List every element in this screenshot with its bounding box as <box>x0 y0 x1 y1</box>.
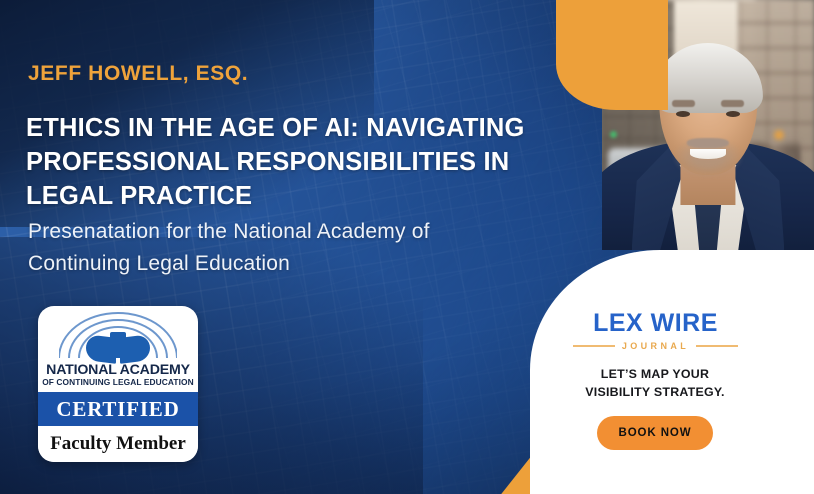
rule-right <box>696 345 738 347</box>
page-title: ETHICS IN THE AGE OF AI: NAVIGATING PROF… <box>26 112 566 214</box>
book-page-left <box>86 334 116 364</box>
badge-role-label: Faculty Member <box>50 433 186 455</box>
book-page-right <box>120 334 150 364</box>
brand-name: LEX WIRE <box>573 311 738 336</box>
beard-stubble <box>672 143 744 178</box>
brand-subtitle: JOURNAL <box>622 341 689 351</box>
eyebrow-left <box>672 100 695 107</box>
cta-tagline: LET’S MAP YOUR VISIBILITY STRATEGY. <box>560 366 750 402</box>
speaker-promo-banner: JEFF HOWELL, ESQ. ETHICS IN THE AGE OF A… <box>0 0 814 494</box>
cta-tagline-line2: VISIBILITY STRATEGY. <box>560 384 750 402</box>
speaker-name: JEFF HOWELL, ESQ. <box>28 62 248 86</box>
badge-organization-name: NATIONAL ACADEMY <box>38 362 198 377</box>
badge-status-bar: CERTIFIED <box>38 392 198 426</box>
rule-left <box>573 345 615 347</box>
cta-tagline-line1: LET’S MAP YOUR <box>560 366 750 384</box>
talk-subtitle: Presenatation for the National Academy o… <box>28 216 538 279</box>
badge-role-bar: Faculty Member <box>38 426 198 462</box>
certification-badge: NATIONAL ACADEMY OF CONTINUING LEGAL EDU… <box>38 306 198 462</box>
badge-organization-subtitle: OF CONTINUING LEGAL EDUCATION <box>38 378 198 387</box>
brand-logo: LEX WIRE JOURNAL <box>573 311 738 351</box>
orange-corner-wedge <box>556 0 668 110</box>
eyebrow-right <box>721 100 744 107</box>
smile <box>690 149 726 160</box>
open-book-icon <box>86 336 150 362</box>
moustache <box>687 138 729 148</box>
book-now-button[interactable]: BOOK NOW <box>597 416 713 450</box>
badge-status-label: CERTIFIED <box>56 397 179 422</box>
brand-subtitle-rule: JOURNAL <box>573 341 738 351</box>
